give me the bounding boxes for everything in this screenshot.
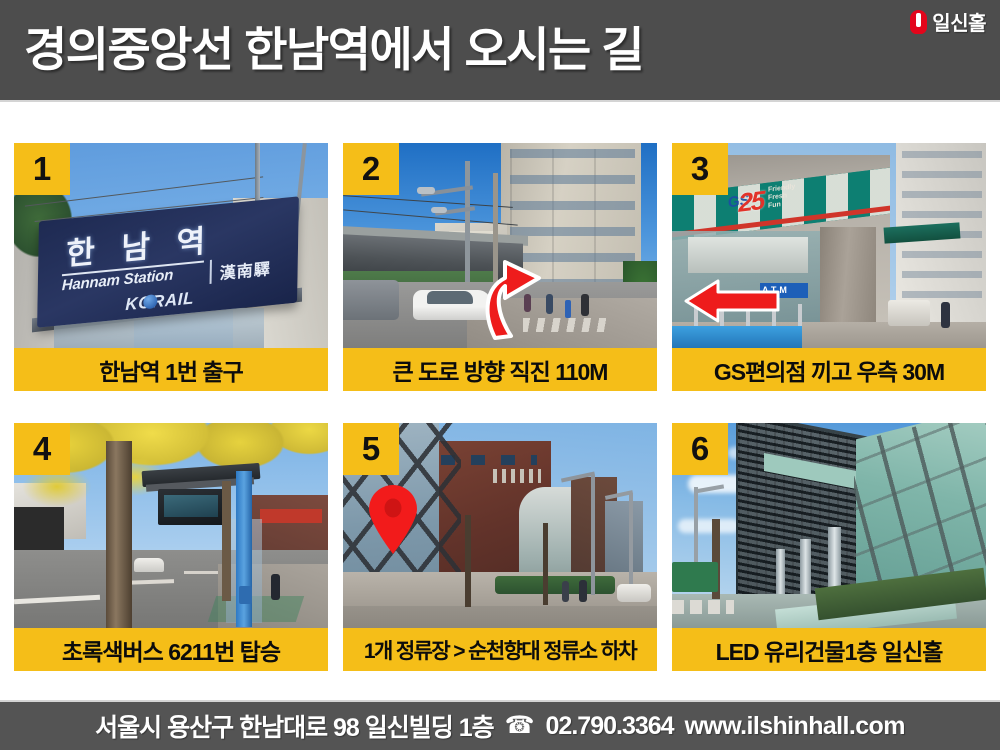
- bus-info-screen: [164, 495, 218, 517]
- step-photo-5: 5: [343, 423, 657, 628]
- street-tree: [543, 523, 548, 605]
- bollard: [565, 300, 571, 318]
- gs25-logo-text: 25: [728, 185, 763, 220]
- curved-arrow-up-right-icon: [465, 238, 551, 342]
- step-panel-1: 한 남 역 Hannam Station 漢南驛 KORAIL 1 한남역 1번…: [14, 143, 328, 391]
- hedge-row: [495, 576, 615, 594]
- step-photo-3: GS 25 FriendlyFreshFun ATM 3: [672, 143, 986, 348]
- page-title: 경의중앙선 한남역에서 오시는 길: [24, 12, 643, 88]
- brick-building-windows: [493, 469, 541, 483]
- street-light-pole: [629, 493, 633, 595]
- store-interior-glow: [688, 237, 808, 273]
- distant-traffic: [672, 600, 734, 614]
- parked-truck: [888, 300, 930, 326]
- step-panel-3: GS 25 FriendlyFreshFun ATM 3 GS편의점 끼고 우측…: [672, 143, 986, 391]
- distant-car: [134, 558, 164, 572]
- step-caption-5: 1개 정류장 > 순천향대 정류소 하차: [343, 628, 657, 671]
- trash-bin: [239, 586, 252, 604]
- pedestrian: [941, 302, 950, 328]
- street-lamp-head: [431, 207, 447, 213]
- pedestrian: [581, 294, 589, 316]
- footer-phone-number: 02.790.3364: [546, 712, 674, 741]
- station-name-korean: 한 남 역: [66, 215, 215, 274]
- step-caption-1: 한남역 1번 출구: [14, 348, 328, 391]
- step-grid: 한 남 역 Hannam Station 漢南驛 KORAIL 1 한남역 1번…: [14, 143, 986, 671]
- korail-logo-text: KORAIL: [125, 288, 194, 315]
- step-photo-1: 한 남 역 Hannam Station 漢南驛 KORAIL 1: [14, 143, 328, 348]
- brand-logo-text: 일신홀: [932, 7, 986, 36]
- street-tree: [465, 515, 471, 607]
- arrow-left-icon: [684, 279, 780, 323]
- parked-van: [343, 280, 399, 320]
- nameplate-divider: [210, 260, 212, 284]
- green-road-sign: [672, 562, 718, 592]
- pedestrian: [271, 574, 280, 600]
- step-number-badge-5: 5: [343, 423, 399, 475]
- step-caption-2: 큰 도로 방향 직진 110M: [343, 348, 657, 391]
- street-lamp-head: [417, 187, 435, 194]
- telephone-icon: ☎: [505, 714, 535, 738]
- footer-website-url[interactable]: www.ilshinhall.com: [685, 712, 905, 741]
- step-panel-6: 6 LED 유리건물1층 일신홀: [672, 423, 986, 671]
- map-pin-icon: [365, 485, 421, 555]
- lane-marking: [184, 571, 218, 574]
- page-header: 경의중앙선 한남역에서 오시는 길 일신홀: [0, 0, 1000, 100]
- cloud: [678, 519, 740, 533]
- step-panel-5: 5 1개 정류장 > 순천향대 정류소 하차: [343, 423, 657, 671]
- step-photo-6: 6: [672, 423, 986, 628]
- step-number-badge-3: 3: [672, 143, 728, 195]
- step-photo-4: 4: [14, 423, 328, 628]
- pedestrian: [579, 580, 587, 602]
- step-photo-2: 2: [343, 143, 657, 348]
- distant-car: [617, 584, 651, 602]
- street-light-pole: [591, 475, 595, 595]
- shop-sign: [260, 509, 322, 523]
- step-number-badge-6: 6: [672, 423, 728, 475]
- brand-logo: 일신홀: [910, 7, 986, 36]
- step-panel-2: 2 큰 도로 방향 직진 110M: [343, 143, 657, 391]
- step-number-badge-1: 1: [14, 143, 70, 195]
- tree-trunk-foreground: [106, 441, 132, 628]
- header-divider: [0, 100, 1000, 102]
- step-panel-4: 4 초록색버스 6211번 탑승: [14, 423, 328, 671]
- pedestrian: [562, 581, 569, 602]
- step-caption-4: 초록색버스 6211번 탑승: [14, 628, 328, 671]
- blue-barrier: [672, 326, 802, 348]
- store-tagline: FriendlyFreshFun: [768, 183, 795, 210]
- step-number-badge-2: 2: [343, 143, 399, 195]
- page-footer: 서울시 용산구 한남대로 98 일신빌딩 1층 ☎ 02.790.3364 ww…: [0, 702, 1000, 750]
- step-caption-3: GS편의점 끼고 우측 30M: [672, 348, 986, 391]
- ilshin-circle-mark-icon: [910, 10, 927, 34]
- tree-trunk: [222, 481, 231, 601]
- step-caption-6: LED 유리건물1층 일신홀: [672, 628, 986, 671]
- footer-address: 서울시 용산구 한남대로 98 일신빌딩 1층: [95, 708, 493, 744]
- step-number-badge-4: 4: [14, 423, 70, 475]
- station-name-hanja: 漢南驛: [220, 255, 271, 284]
